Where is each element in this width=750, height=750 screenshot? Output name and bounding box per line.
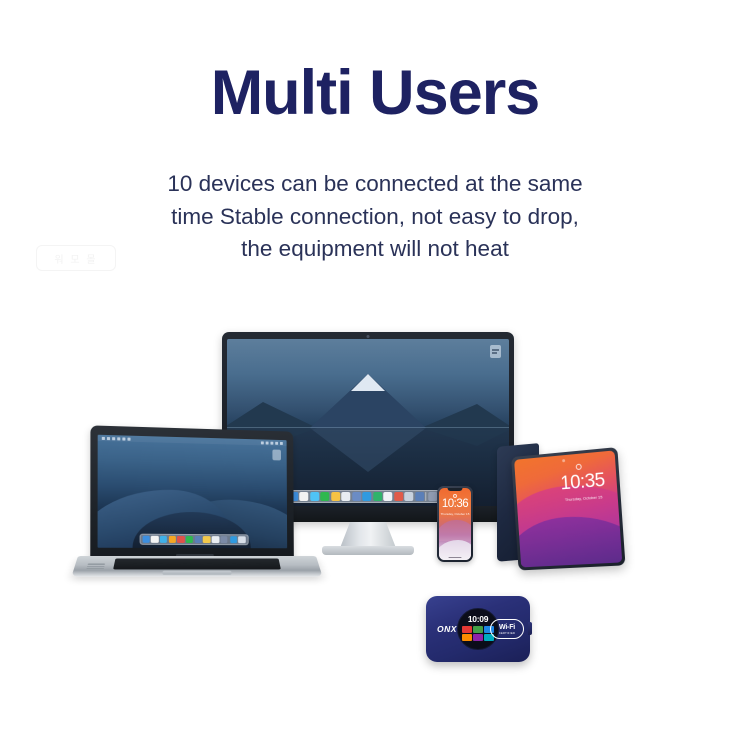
description-line-3: the equipment will not heat (95, 233, 655, 266)
dock-icon[interactable] (151, 536, 159, 544)
description-line-1: 10 devices can be connected at the same (95, 168, 655, 201)
laptop-keyboard[interactable] (113, 559, 281, 570)
menubar-item[interactable] (117, 437, 120, 440)
wallpaper-hill-right (421, 404, 509, 428)
control-center-icon[interactable] (275, 441, 278, 444)
laptop-desktop-widget-icon[interactable] (272, 450, 281, 461)
iphone-device: 10:36 Thursday, October 15 (437, 486, 473, 562)
ipad-tablet: 10:35 Thursday, October 15 (511, 447, 625, 570)
macos-dock-laptop[interactable] (139, 534, 248, 546)
desktop-widget-icon[interactable] (490, 345, 501, 358)
laptop-ports (86, 564, 105, 569)
dock-icon[interactable] (428, 492, 437, 501)
dock-icon[interactable] (341, 492, 350, 501)
dock-icon[interactable] (168, 536, 176, 544)
hotspot-status-tile (462, 626, 472, 633)
dock-icon[interactable] (220, 536, 227, 543)
dock-icon[interactable] (404, 492, 413, 501)
dock-icon[interactable] (238, 536, 245, 543)
dock-icon[interactable] (212, 536, 219, 543)
home-indicator[interactable] (449, 557, 462, 558)
iphone-clock: 10:36 (439, 499, 472, 511)
lock-icon (453, 494, 457, 498)
laptop-base (71, 556, 322, 577)
clock-status-icon[interactable] (270, 441, 273, 444)
hotspot-status-tile (473, 634, 483, 641)
menubar-item[interactable] (127, 437, 130, 440)
wifi-certified-logo: Wi-Fi CERTIFIED (490, 619, 524, 639)
watermark: 워 모 몰 (36, 245, 116, 271)
dock-icon[interactable] (160, 536, 168, 544)
laptop-port (86, 568, 103, 569)
hotspot-status-tiles-row2 (462, 634, 494, 641)
laptop-lid (90, 425, 294, 560)
menubar-app-menus[interactable] (102, 436, 131, 440)
laptop-port (87, 566, 104, 567)
dock-icon[interactable] (194, 536, 201, 544)
device-lineup: 10:35 Thursday, October 15 10:36 Thursda… (0, 300, 750, 700)
dock-icon[interactable] (186, 536, 193, 544)
wallpaper-mountain-reflection (310, 428, 426, 472)
monitor-camera-icon (367, 335, 370, 338)
portable-wifi-hotspot: ONXT® 10:09 Wi-Fi CERTIFIED (426, 596, 530, 662)
laptop-trackpad[interactable] (162, 571, 232, 575)
laptop-screen (98, 435, 288, 549)
menubar-item[interactable] (112, 437, 115, 440)
description-line-2: time Stable connection, not easy to drop… (95, 201, 655, 234)
spotlight-icon[interactable] (280, 441, 283, 444)
dock-icon[interactable] (177, 536, 184, 544)
battery-status-icon[interactable] (266, 441, 269, 444)
iphone-wallpaper-wave-purple (439, 520, 472, 542)
dock-icon[interactable] (203, 536, 210, 544)
dock-icon[interactable] (331, 492, 340, 501)
dock-icon[interactable] (383, 492, 392, 501)
hotspot-power-button[interactable] (528, 622, 532, 635)
ipad-camera-icon (562, 459, 565, 462)
dock-separator (425, 492, 426, 501)
wallpaper-hill-right-reflection (421, 428, 509, 446)
laptop-port (87, 564, 104, 565)
page-title: Multi Users (0, 60, 750, 126)
description-text: 10 devices can be connected at the same … (95, 168, 655, 266)
dock-icon[interactable] (394, 492, 403, 501)
macbook-laptop (78, 428, 316, 588)
dock-icon[interactable] (362, 492, 371, 501)
lock-icon (576, 464, 582, 471)
dock-icon[interactable] (415, 492, 424, 501)
dock-icon[interactable] (142, 535, 150, 543)
iphone-screen: 10:36 Thursday, October 15 (439, 488, 472, 561)
hotspot-clock: 10:09 (468, 615, 488, 624)
menubar-item[interactable] (107, 437, 110, 440)
wallpaper-snowcap (351, 374, 385, 391)
iphone-date: Thursday, October 15 (439, 512, 472, 516)
dock-icon[interactable] (373, 492, 382, 501)
monitor-stand-foot (322, 546, 414, 555)
dock-icon[interactable] (352, 492, 361, 501)
monitor-stand-neck (340, 522, 396, 548)
iphone-notch (448, 488, 463, 492)
hotspot-status-tile (473, 626, 483, 633)
wallpaper-hill-left (227, 402, 317, 428)
ipad-screen: 10:35 Thursday, October 15 (514, 450, 622, 567)
wifi-status-icon[interactable] (261, 441, 264, 444)
menubar-item[interactable] (122, 437, 125, 440)
dock-icon[interactable] (230, 536, 237, 543)
hotspot-status-tile (462, 634, 472, 641)
wifi-certified-sublabel: CERTIFIED (499, 632, 515, 635)
macos-menubar[interactable] (98, 435, 287, 446)
wifi-certified-label: Wi-Fi (499, 624, 515, 631)
menubar-status-icons[interactable] (261, 441, 283, 445)
apple-menu-icon[interactable] (102, 436, 105, 439)
dock-icon[interactable] (320, 492, 329, 501)
